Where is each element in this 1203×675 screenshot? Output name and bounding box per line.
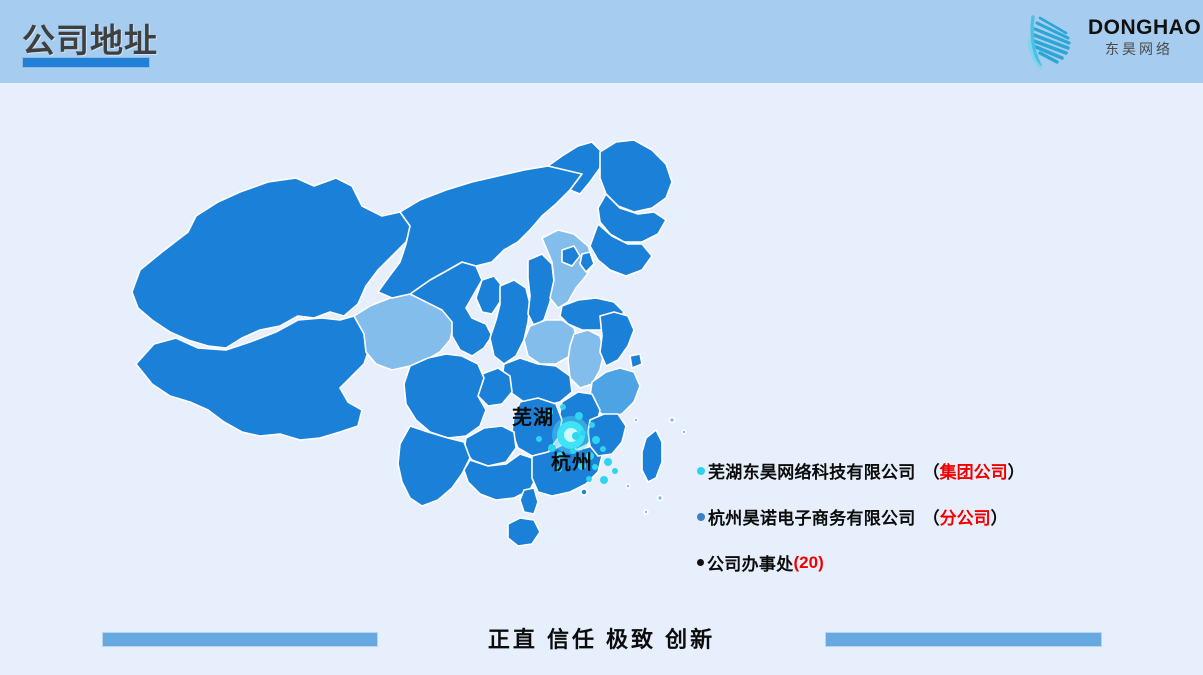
office-dot [604, 458, 612, 466]
office-dot [592, 436, 600, 444]
logo-text: DONGHAO 东昊网络 [1088, 16, 1190, 59]
legend-tag: （集团公司） [923, 458, 1025, 483]
legend-label: 芜湖东昊网络科技有限公司 [708, 458, 916, 483]
legend-paren-close: ） [991, 509, 1008, 528]
office-dot [536, 436, 542, 442]
office-dot [572, 432, 580, 440]
legend-label: 杭州昊诺电子商务有限公司 [708, 504, 916, 529]
legend-label: 公司办事处 [707, 550, 794, 575]
office-dot [560, 404, 566, 410]
company-logo: DONGHAO 东昊网络 [1026, 8, 1191, 74]
page-title: 公司地址 [22, 14, 158, 62]
legend-paren-close: ） [1008, 463, 1025, 482]
office-dot [575, 412, 583, 420]
map-label-hangzhou: 杭州 [551, 446, 593, 475]
legend-tag: （分公司） [923, 504, 1008, 529]
map-label-wuhu: 芜湖 [512, 401, 554, 430]
legend-item-offices: 公司办事处 (20) [697, 550, 1117, 575]
legend-paren-open: （ [923, 463, 940, 482]
map-provinces [132, 140, 686, 546]
slide: 公司地址 DO [0, 0, 1203, 675]
legend-paren-open: （ [923, 509, 940, 528]
legend-tag-text: 分公司 [940, 509, 991, 528]
office-dot [580, 430, 586, 436]
office-dot [586, 476, 592, 482]
office-dot [600, 446, 606, 452]
legend-bullet-black-icon [697, 559, 704, 566]
footer-slogan: 正直 信任 极致 创新 [0, 622, 1203, 654]
legend-item-group-company: 芜湖东昊网络科技有限公司 （集团公司） [697, 458, 1117, 483]
legend-bullet-cyan-icon [697, 467, 705, 475]
office-dot [600, 476, 608, 484]
legend-tag-text: (20) [794, 553, 824, 572]
logo-name: DONGHAO [1088, 16, 1190, 39]
china-map [100, 120, 720, 610]
title-underline [22, 57, 150, 68]
legend-tag-text: 集团公司 [940, 463, 1008, 482]
logo-subtitle: 东昊网络 [1088, 40, 1190, 59]
legend: 芜湖东昊网络科技有限公司 （集团公司） 杭州昊诺电子商务有限公司 （分公司） 公… [697, 458, 1117, 596]
slide-header: 公司地址 DO [0, 0, 1203, 83]
logo-feather-icon [1026, 10, 1088, 70]
office-dot [589, 422, 595, 428]
legend-bullet-blue-icon [697, 513, 705, 521]
office-dot [612, 468, 618, 474]
legend-tag: (20) [794, 553, 824, 573]
legend-item-branch-company: 杭州昊诺电子商务有限公司 （分公司） [697, 504, 1117, 529]
